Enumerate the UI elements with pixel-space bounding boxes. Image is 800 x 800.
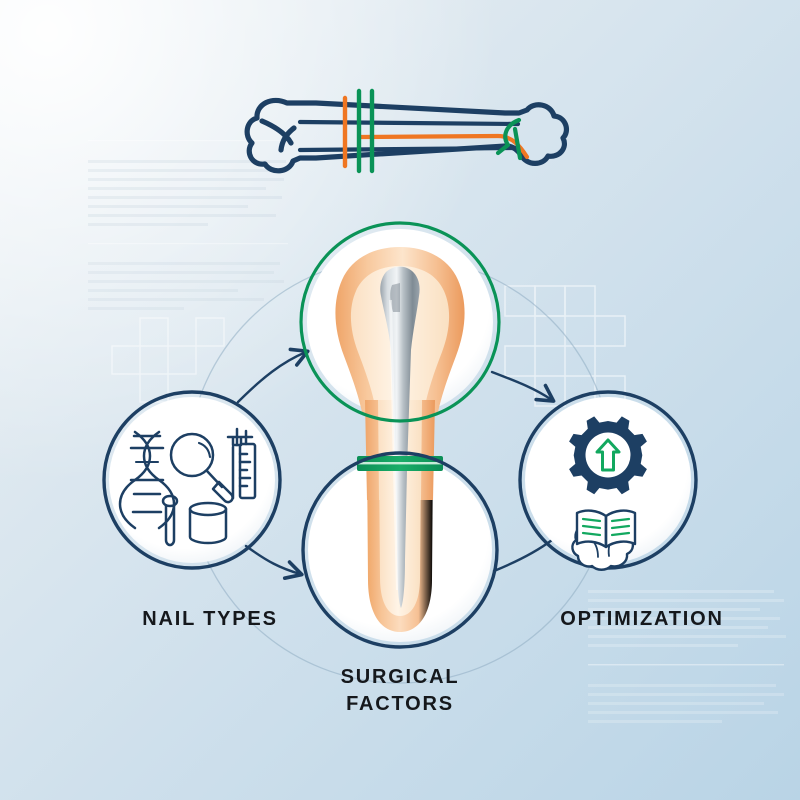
open-book-brain-icon: [572, 511, 635, 570]
book-right-page: [606, 511, 635, 547]
node-label-optimization: OPTIMIZATION: [492, 606, 792, 633]
gear-with-up-arrow-icon: [569, 416, 647, 494]
infographic-canvas: NAIL TYPES OPTIMIZATION SURGICAL FACTORS: [0, 0, 800, 800]
book-left-page: [577, 511, 606, 547]
node-label-nail-types: NAIL TYPES: [60, 606, 360, 633]
node-label-surgical-factors: SURGICAL FACTORS: [250, 664, 550, 718]
